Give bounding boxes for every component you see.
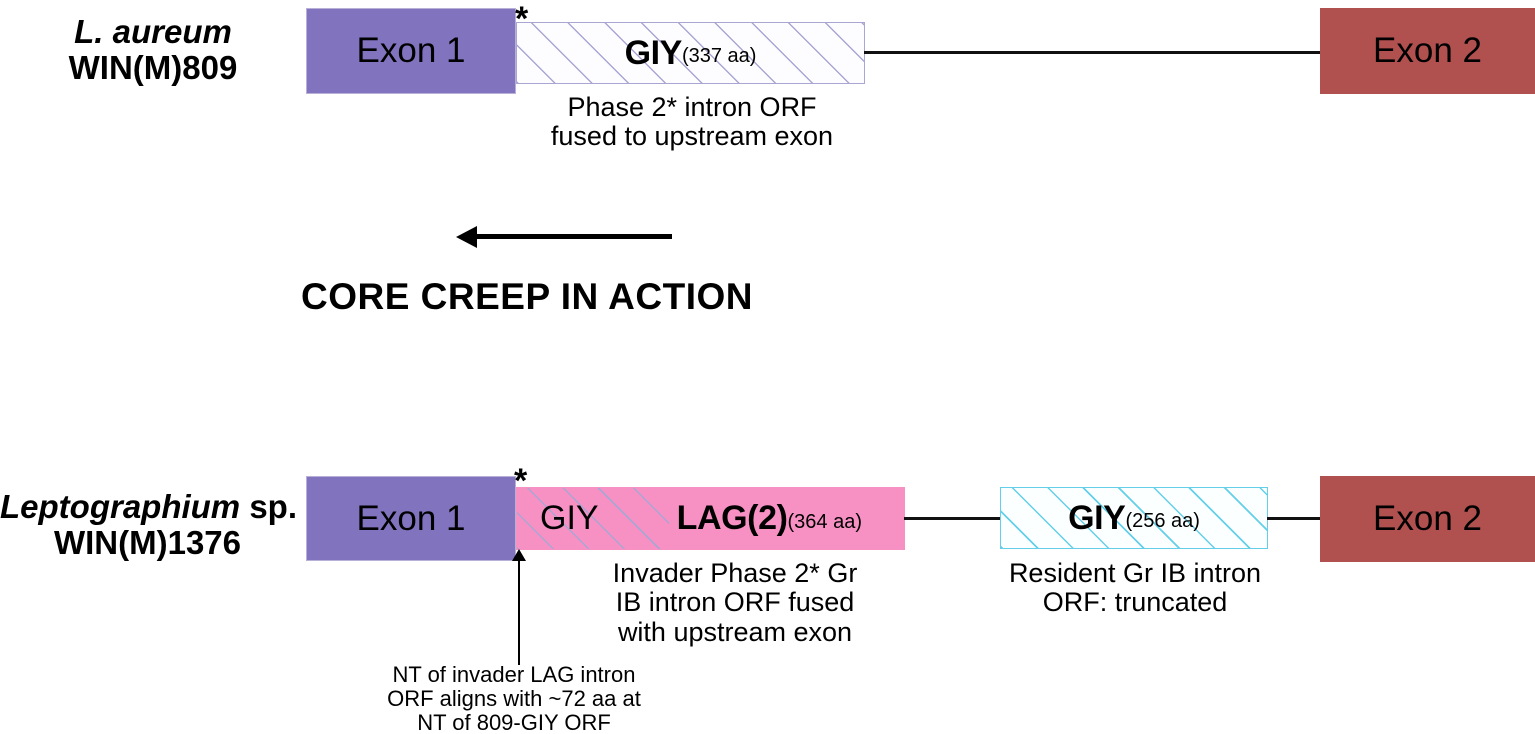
exon1-box-row2: Exon 1 [306,476,516,561]
exon2-box-row2: Exon 2 [1320,476,1535,562]
exon1-box-row1: Exon 1 [306,8,516,94]
caption-row1: Phase 2* intron ORF fused to upstream ex… [534,93,850,152]
organism-label-row2: Leptographium sp. WIN(M)1376 [0,489,295,560]
orf-name-giy-row1: GIY [625,34,682,73]
organism-strain-row2: WIN(M)1376 [0,525,295,561]
arrow-shaft [476,234,672,239]
organism-name-row2: Leptographium sp. [0,489,295,525]
junction-pointer-note: NT of invader LAG intron ORF aligns with… [378,663,650,734]
exon2-label-row1: Exon 2 [1373,31,1482,71]
orf-size-lag2-row2: (364 aa) [788,511,863,534]
orf-size-giy-resident-row2: (256 aa) [1125,510,1200,533]
orf-name-giy-resident-row2: GIY [1068,499,1125,538]
core-creep-label: CORE CREEP IN ACTION [301,276,753,318]
gene-structure-figure: L. aureum WIN(M)809 Exon 1 * GIY (337 aa… [0,0,1535,734]
organism-label-row1: L. aureum WIN(M)809 [8,14,298,85]
orf-label-giy-row2: GIY [540,499,599,538]
caption-resident-row2: Resident Gr IB intron ORF: truncated [975,559,1295,618]
organism-name-row1: L. aureum [8,14,298,50]
organism-genus-row2: Leptographium [0,488,240,525]
intron-connector-row1 [864,51,1321,54]
organism-strain-row1: WIN(M)809 [8,50,298,86]
orf-box-lag2-364-row2: GIY LAG(2) (364 aa) [516,487,905,550]
exon2-box-row1: Exon 2 [1320,8,1535,94]
orf-size-giy-row1: (337 aa) [682,45,757,68]
exon1-label-row2: Exon 1 [357,499,466,539]
exon2-label-row2: Exon 2 [1373,499,1482,539]
organism-sp-row2: sp. [240,488,297,525]
intron-connector-row2-right [1267,517,1322,520]
caption-invader-row2: Invader Phase 2* Gr IB intron ORF fused … [575,559,895,647]
junction-pointer-arrow [512,549,526,665]
arrow-left-icon [456,226,477,248]
intron-connector-row2-left [904,517,1002,520]
orf-box-giy-256-row2: GIY (256 aa) [1000,487,1268,549]
orf-box-giy-337-row1: GIY (337 aa) [516,22,865,84]
core-creep-arrow [456,226,672,248]
orf-name-lag2-row2: LAG(2) [677,499,788,538]
pointer-shaft [518,560,521,665]
exon1-label-row1: Exon 1 [357,31,466,71]
